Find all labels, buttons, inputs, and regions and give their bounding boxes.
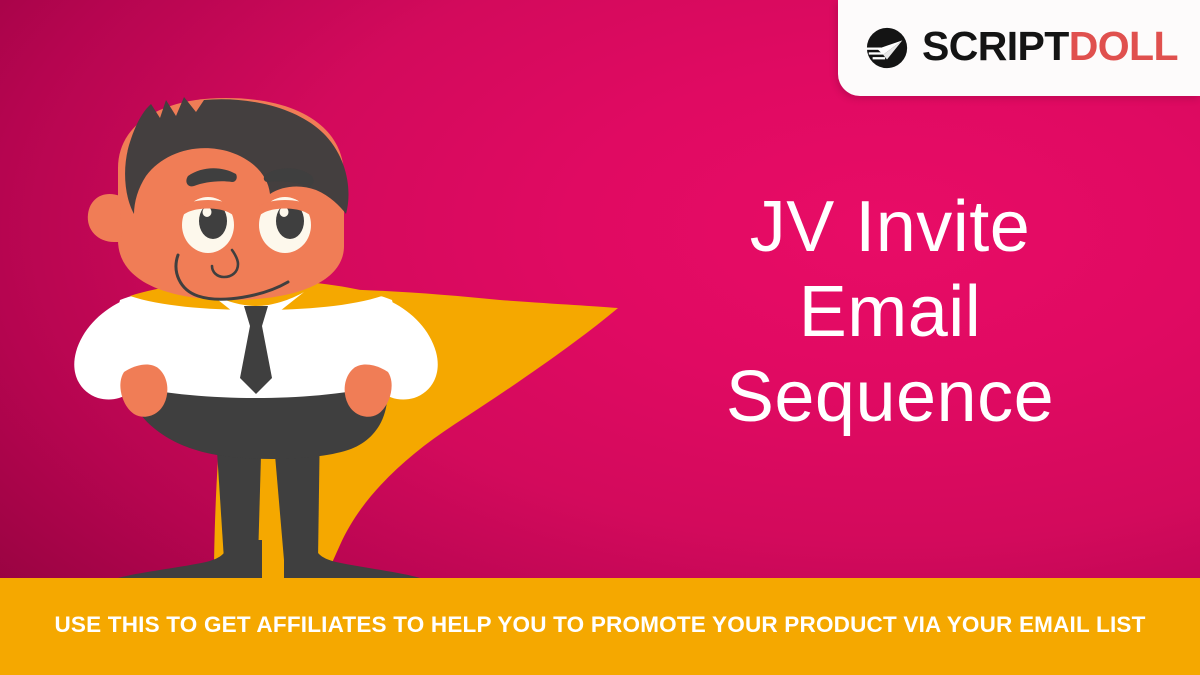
page-title: JV Invite Email Sequence (620, 185, 1160, 440)
headline-line-2: Email (620, 270, 1160, 355)
banner-caption: USE THIS TO GET AFFILIATES TO HELP YOU T… (54, 614, 1145, 639)
brand-wordmark-script: SCRIPT (922, 23, 1069, 69)
headline-line-3: Sequence (620, 355, 1160, 440)
headline-line-1: JV Invite (620, 185, 1160, 270)
brand-wordmark: SCRIPTDOLL (922, 26, 1178, 70)
slide-canvas: JV Invite Email Sequence SCRIPTDOLL USE … (0, 0, 1200, 675)
brand-logo-badge[interactable]: SCRIPTDOLL (838, 0, 1200, 96)
brand-wordmark-doll: DOLL (1069, 23, 1178, 69)
paper-plane-circle-icon (864, 25, 910, 71)
bottom-banner: USE THIS TO GET AFFILIATES TO HELP YOU T… (0, 578, 1200, 675)
